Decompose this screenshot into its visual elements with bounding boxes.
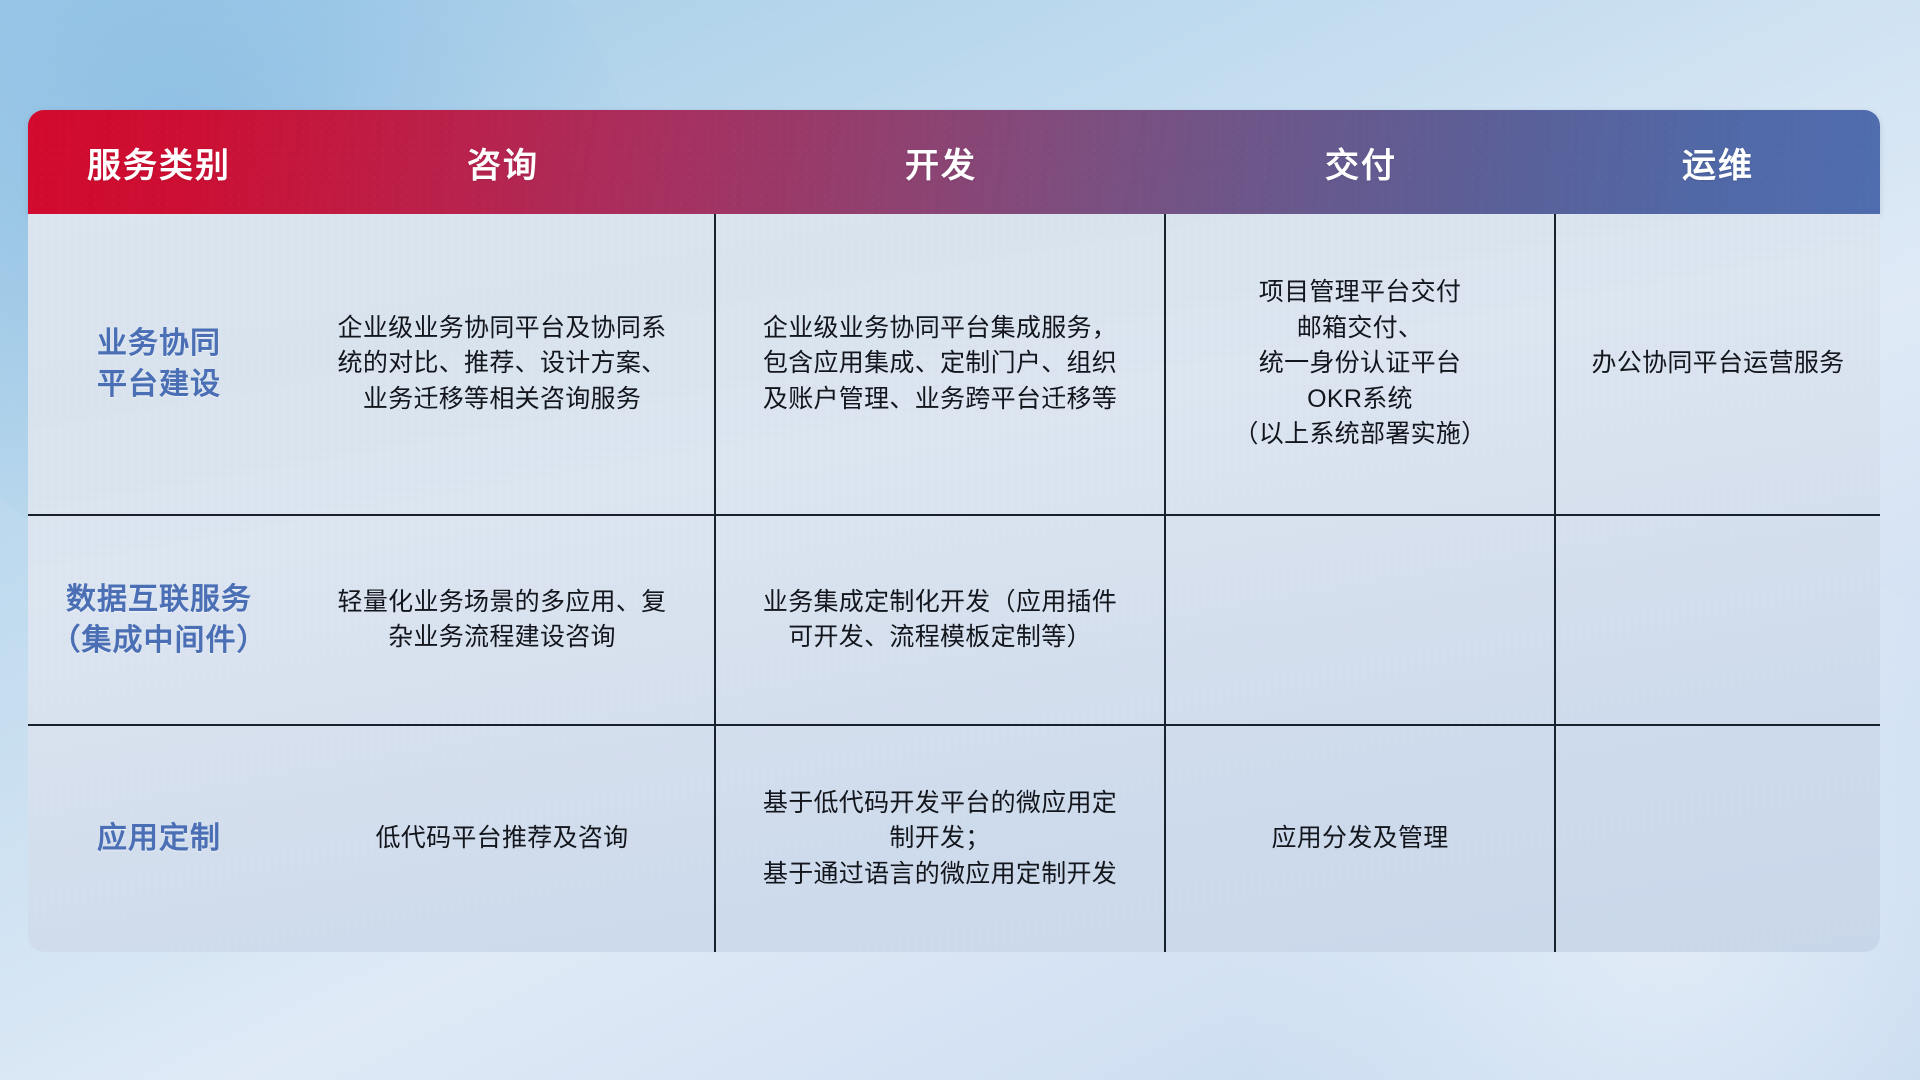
table-header-operations: 运维	[1556, 110, 1880, 214]
row-label-business-collab-platform: 业务协同 平台建设	[28, 214, 290, 514]
service-matrix-table: 服务类别 咨询 开发 交付 运维 业务协同 平台建设 企业级业务协同平台及协同系…	[28, 110, 1880, 948]
row-label-data-interconnect-service: 数据互联服务 （集成中间件）	[28, 516, 290, 724]
table-header-development: 开发	[716, 110, 1166, 214]
cell-application-customization-operations	[1556, 726, 1880, 952]
cell-data-interconnect-operations	[1556, 516, 1880, 724]
cell-data-interconnect-consulting: 轻量化业务场景的多应用、复 杂业务流程建设咨询	[290, 516, 716, 724]
cell-application-customization-consulting: 低代码平台推荐及咨询	[290, 726, 716, 952]
table-header-delivery: 交付	[1166, 110, 1556, 214]
cell-application-customization-delivery: 应用分发及管理	[1166, 726, 1556, 952]
cell-business-collab-development: 企业级业务协同平台集成服务， 包含应用集成、定制门户、组织 及账户管理、业务跨平…	[716, 214, 1166, 514]
cell-business-collab-delivery: 项目管理平台交付 邮箱交付、 统一身份认证平台 OKR系统 （以上系统部署实施）	[1166, 214, 1556, 514]
table-header-service-category: 服务类别	[28, 110, 290, 214]
table-row: 业务协同 平台建设 企业级业务协同平台及协同系 统的对比、推荐、设计方案、 业务…	[28, 214, 1880, 516]
table-header-row: 服务类别 咨询 开发 交付 运维	[28, 110, 1880, 214]
row-label-application-customization: 应用定制	[28, 726, 290, 952]
table-header-consulting: 咨询	[290, 110, 716, 214]
cell-data-interconnect-delivery	[1166, 516, 1556, 724]
table-row: 应用定制 低代码平台推荐及咨询 基于低代码开发平台的微应用定 制开发； 基于通过…	[28, 726, 1880, 952]
cell-application-customization-development: 基于低代码开发平台的微应用定 制开发； 基于通过语言的微应用定制开发	[716, 726, 1166, 952]
slide-canvas: 服务类别 咨询 开发 交付 运维 业务协同 平台建设 企业级业务协同平台及协同系…	[0, 0, 1920, 1080]
table-row: 数据互联服务 （集成中间件） 轻量化业务场景的多应用、复 杂业务流程建设咨询 业…	[28, 516, 1880, 726]
cell-business-collab-consulting: 企业级业务协同平台及协同系 统的对比、推荐、设计方案、 业务迁移等相关咨询服务	[290, 214, 716, 514]
cell-data-interconnect-development: 业务集成定制化开发（应用插件 可开发、流程模板定制等）	[716, 516, 1166, 724]
table-body: 业务协同 平台建设 企业级业务协同平台及协同系 统的对比、推荐、设计方案、 业务…	[28, 214, 1880, 952]
cell-business-collab-operations: 办公协同平台运营服务	[1556, 214, 1880, 514]
